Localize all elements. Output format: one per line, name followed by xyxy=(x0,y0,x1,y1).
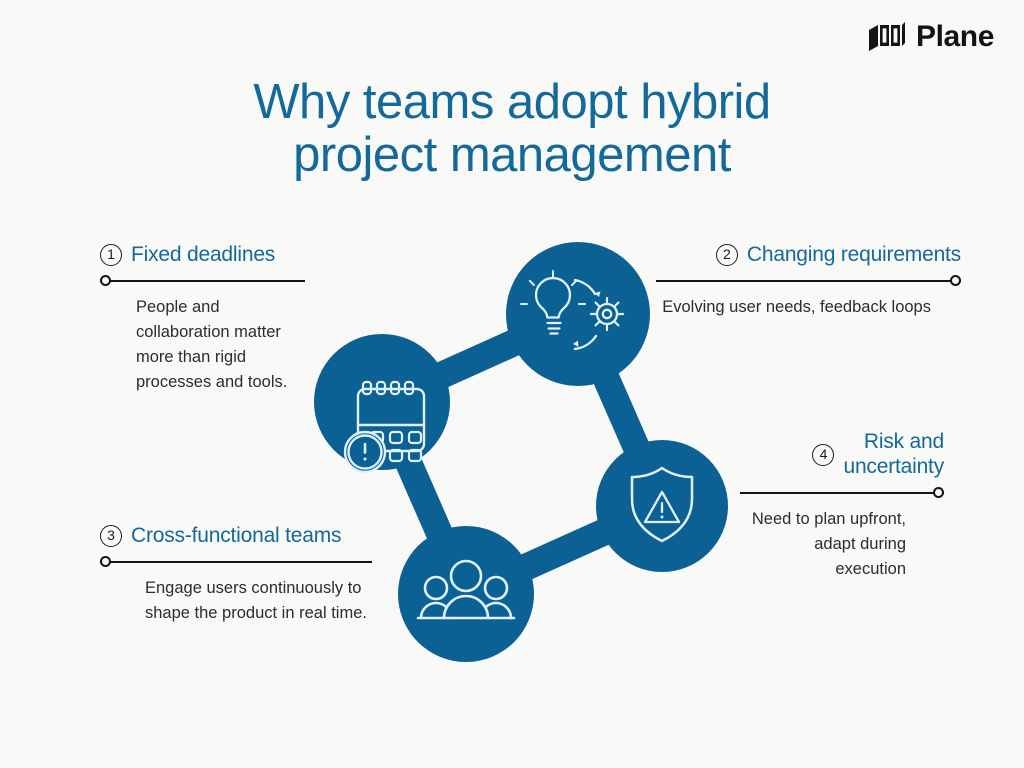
callout-2-rule xyxy=(656,275,961,286)
callout-2-header: 2 Changing requirements xyxy=(656,243,961,268)
callout-2-body: Evolving user needs, feedback loops xyxy=(656,295,961,320)
callout-1-body: People and collaboration matter more tha… xyxy=(100,295,305,395)
callout-1: 1 Fixed deadlines People and collaborati… xyxy=(100,243,305,395)
node-idea[interactable] xyxy=(506,242,650,386)
callout-4-rule xyxy=(740,487,944,498)
rule-endpoint-dot xyxy=(100,556,111,567)
callout-4-title-line1: Risk and xyxy=(864,430,944,453)
brand-name: Plane xyxy=(916,22,994,52)
callout-4-body: Need to plan upfront, adapt during execu… xyxy=(740,507,944,582)
callout-4: 4 Risk and uncertainty Need to plan upfr… xyxy=(740,430,944,582)
callout-3-body: Engage users continuously to shape the p… xyxy=(100,576,372,626)
rule-bar xyxy=(100,280,305,282)
rule-bar xyxy=(656,280,961,282)
callout-2-number: 2 xyxy=(716,244,738,266)
callout-3-title: Cross-functional teams xyxy=(131,524,341,549)
callout-1-number: 1 xyxy=(100,244,122,266)
callout-1-rule xyxy=(100,275,305,286)
page-title: Why teams adopt hybrid project managemen… xyxy=(0,76,1024,182)
callout-1-title: Fixed deadlines xyxy=(131,243,275,268)
node-calendar[interactable] xyxy=(314,334,450,472)
rule-endpoint-dot xyxy=(950,275,961,286)
callout-3-header: 3 Cross-functional teams xyxy=(100,524,372,549)
callout-1-header: 1 Fixed deadlines xyxy=(100,243,305,268)
callout-4-header: 4 Risk and uncertainty xyxy=(740,430,944,480)
brand-logo: Plane xyxy=(867,22,994,52)
callout-4-title-line2: uncertainty xyxy=(843,455,944,478)
node-shield[interactable] xyxy=(596,440,728,572)
page-title-line1: Why teams adopt hybrid xyxy=(253,75,770,129)
slide-canvas: Plane Why teams adopt hybrid project man… xyxy=(0,0,1024,768)
rule-bar xyxy=(100,561,372,563)
callout-3: 3 Cross-functional teams Engage users co… xyxy=(100,524,372,626)
rule-endpoint-dot xyxy=(933,487,944,498)
page-title-line2: project management xyxy=(0,129,1024,182)
callout-4-title: Risk and uncertainty xyxy=(843,430,944,480)
callout-4-number: 4 xyxy=(812,444,834,466)
rule-bar xyxy=(740,492,944,494)
callout-3-rule xyxy=(100,556,372,567)
plane-logo-icon xyxy=(867,22,907,52)
node-people[interactable] xyxy=(398,526,534,662)
callout-3-number: 3 xyxy=(100,525,122,547)
rule-endpoint-dot xyxy=(100,275,111,286)
callout-2-title: Changing requirements xyxy=(747,243,961,268)
callout-2: 2 Changing requirements Evolving user ne… xyxy=(656,243,961,320)
